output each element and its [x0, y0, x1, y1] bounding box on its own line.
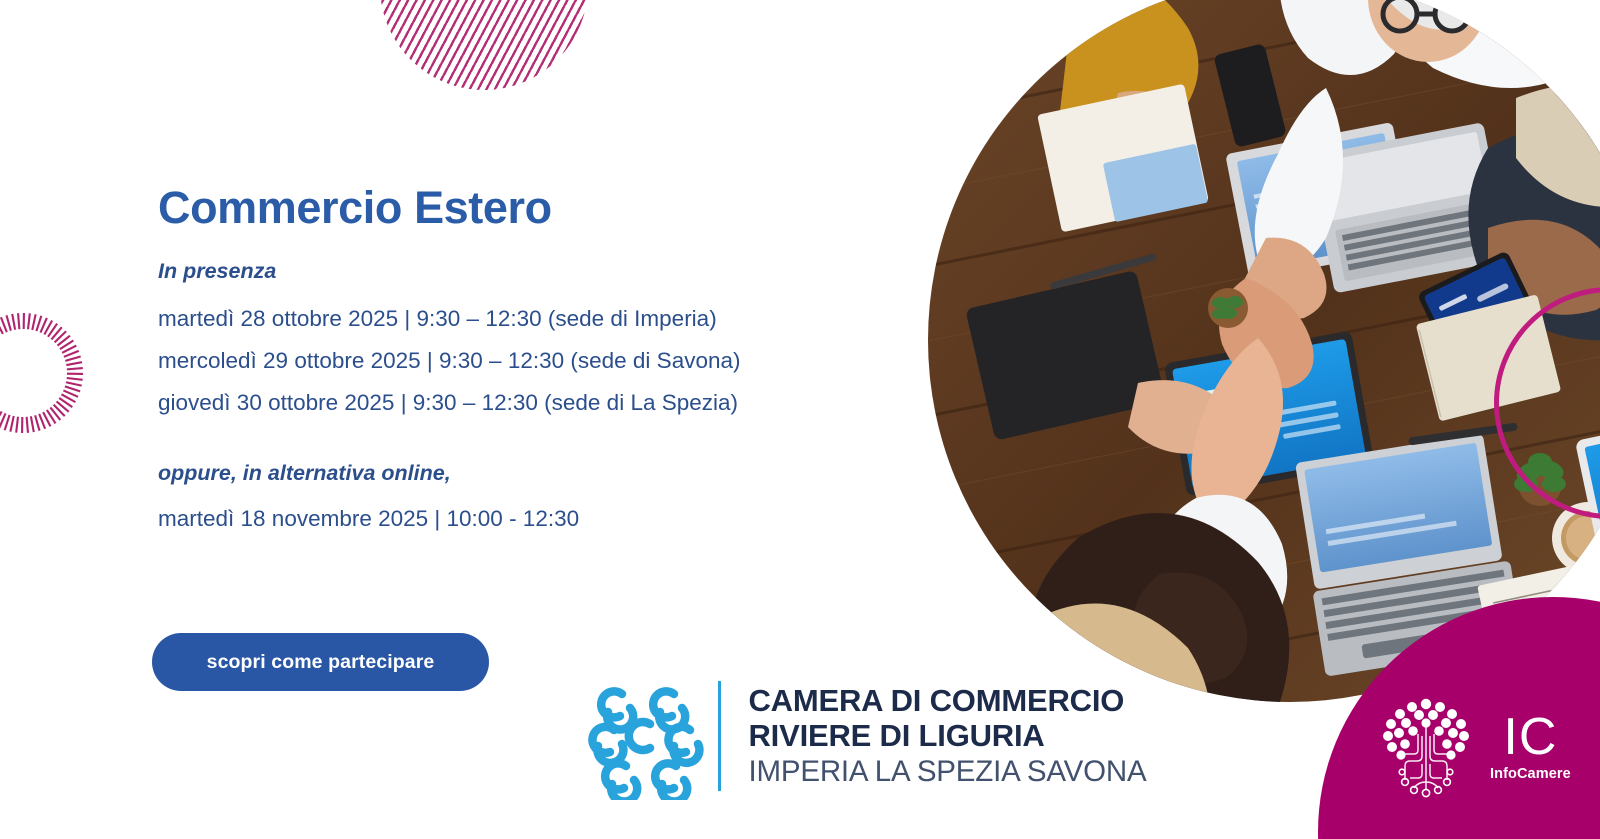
infocamere-logo: IC InfoCamere — [1378, 686, 1598, 806]
in-person-date-1: martedì 28 ottobre 2025 | 9:30 – 12:30 (… — [158, 298, 918, 340]
poster-canvas: {} — [0, 0, 1600, 839]
cciaa-line-1: CAMERA DI COMMERCIO — [749, 683, 1147, 719]
cciaa-line-2: RIVIERE DI LIGURIA — [749, 718, 1147, 754]
in-person-label: In presenza — [158, 256, 918, 286]
page-title: Commercio Estero — [158, 182, 552, 234]
logo-divider — [718, 681, 721, 791]
in-person-date-2: mercoledì 29 ottobre 2025 | 9:30 – 12:30… — [158, 340, 918, 382]
camera-di-commercio-logo: CAMERA DI COMMERCIO RIVIERE DI LIGURIA I… — [578, 672, 1146, 800]
infocamere-wordmark: IC InfoCamere — [1490, 712, 1571, 783]
camera-di-commercio-wordmark: CAMERA DI COMMERCIO RIVIERE DI LIGURIA I… — [749, 683, 1147, 790]
online-label: oppure, in alternativa online, — [158, 458, 918, 488]
online-date-1: martedì 18 novembre 2025 | 10:00 - 12:30 — [158, 498, 918, 540]
spacer — [158, 424, 918, 458]
radial-tick-ring-decoration: {} — [0, 298, 98, 448]
scopri-come-partecipare-button[interactable]: scopri come partecipare — [152, 633, 489, 691]
camera-di-commercio-c-cluster-icon — [578, 672, 706, 800]
schedule-block: In presenza martedì 28 ottobre 2025 | 9:… — [158, 256, 918, 540]
meeting-photo — [928, 0, 1600, 702]
striped-half-disc-decoration — [380, 0, 588, 90]
infocamere-name: InfoCamere — [1490, 766, 1571, 783]
cciaa-line-3: IMPERIA LA SPEZIA SAVONA — [749, 754, 1147, 790]
in-person-date-3: giovedì 30 ottobre 2025 | 9:30 – 12:30 (… — [158, 382, 918, 424]
infocamere-initials: IC — [1503, 712, 1557, 762]
infocamere-tree-circuit-icon — [1378, 694, 1474, 798]
